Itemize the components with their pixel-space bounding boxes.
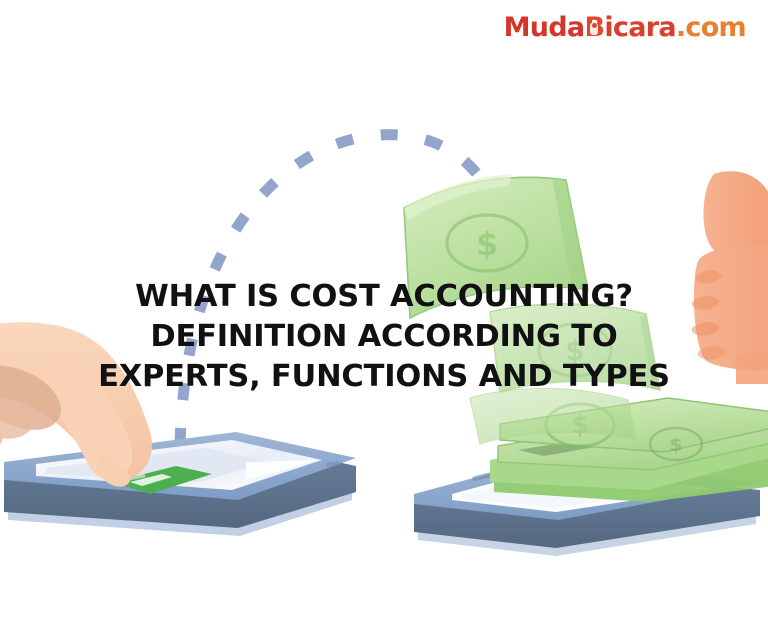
page-title-line-1: WHAT IS COST ACCOUNTING? <box>0 277 768 317</box>
page-title: WHAT IS COST ACCOUNTING? DEFINITION ACCO… <box>0 277 768 397</box>
page-title-line-3: EXPERTS, FUNCTIONS AND TYPES <box>0 357 768 397</box>
left-phone <box>4 432 356 536</box>
svg-text:$: $ <box>669 434 682 456</box>
svg-text:$: $ <box>476 225 498 263</box>
page-title-line-2: DEFINITION ACCORDING TO <box>0 317 768 357</box>
